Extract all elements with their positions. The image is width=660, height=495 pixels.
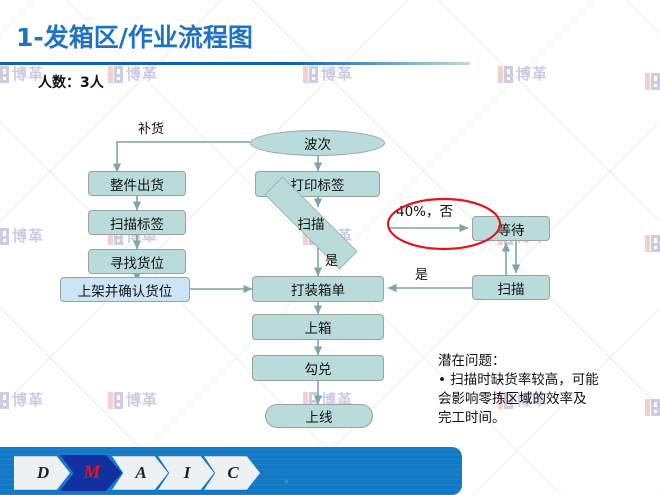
potential-problem-note: 潜在问题： • 扫描时缺货率较高，可能 会影响零拣区域的效率及 完工时间。 — [438, 352, 653, 429]
footer-bar: D M A I C — [0, 447, 462, 495]
dmaic-phase-nav: D M A I C — [14, 455, 250, 491]
note-line: • 扫描时缺货率较高，可能 — [438, 371, 653, 390]
note-heading: 潜在问题： — [438, 352, 653, 371]
dmaic-phase-d[interactable]: D — [14, 456, 70, 490]
note-line: 完工时间。 — [438, 409, 653, 428]
note-line: 会影响零拣区域的效率及 — [438, 390, 653, 409]
slide-canvas: 博革 博革 博革 博革 博革 博革 博革 博革 博革 博革 博革 博革 博革 博… — [0, 0, 660, 495]
